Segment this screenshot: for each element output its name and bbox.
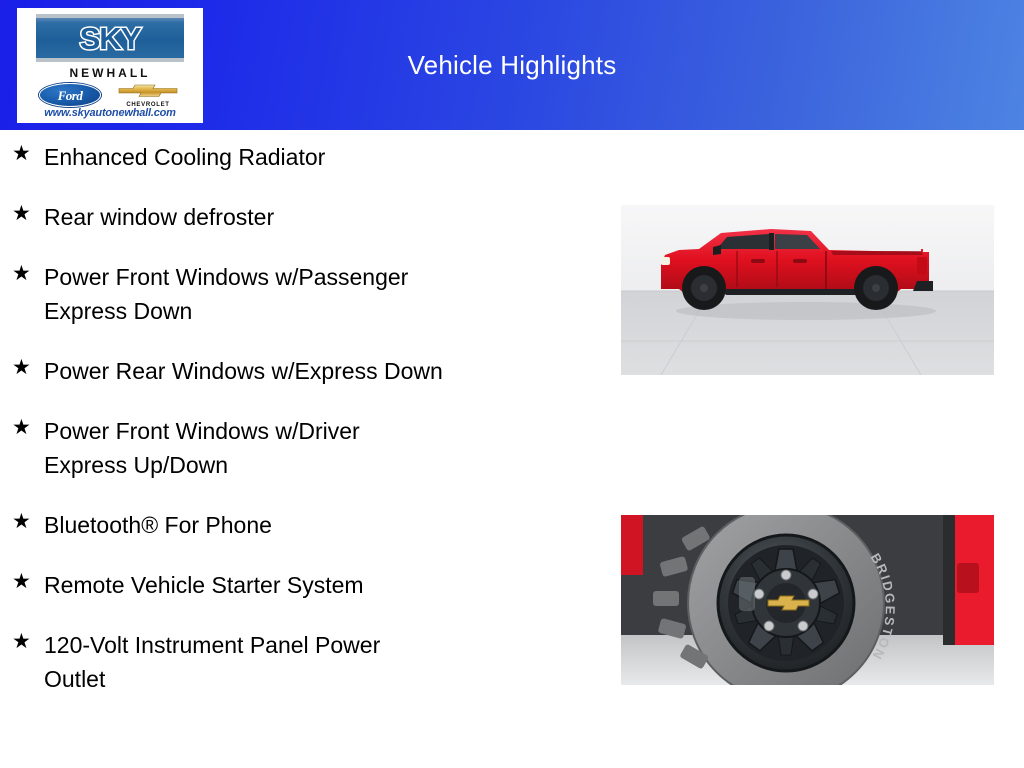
list-item: ★ Power Rear Windows w/Express Down bbox=[0, 354, 600, 388]
star-bullet-icon: ★ bbox=[12, 569, 31, 595]
star-bullet-icon: ★ bbox=[12, 629, 31, 655]
sky-wordmark: SKY bbox=[80, 23, 141, 54]
list-item-label: Power Front Windows w/Driver Express Up/… bbox=[44, 414, 600, 482]
dealer-location-label: NEWHALL bbox=[17, 66, 203, 80]
vehicle-wheel-illustration: BRIDGESTONE bbox=[621, 515, 994, 685]
list-item-label: 120-Volt Instrument Panel Power Outlet bbox=[44, 628, 600, 696]
list-item: ★ Power Front Windows w/Passenger Expres… bbox=[0, 260, 600, 328]
list-item-label: Remote Vehicle Starter System bbox=[44, 568, 600, 602]
list-item: ★ Rear window defroster bbox=[0, 200, 600, 234]
list-item: ★ Bluetooth® For Phone bbox=[0, 508, 600, 542]
franchise-logos: Ford CHEVROL bbox=[17, 82, 203, 108]
list-item-label: Rear window defroster bbox=[44, 200, 600, 234]
list-item-label: Power Rear Windows w/Express Down bbox=[44, 354, 600, 388]
list-item: ★ 120-Volt Instrument Panel Power Outlet bbox=[0, 628, 600, 696]
sky-brand-plate: SKY bbox=[36, 14, 184, 62]
list-item-label: Enhanced Cooling Radiator bbox=[44, 140, 600, 174]
ford-wordmark: Ford bbox=[58, 89, 83, 102]
star-bullet-icon: ★ bbox=[12, 201, 31, 227]
vehicle-exterior-photo[interactable] bbox=[621, 205, 994, 375]
vehicle-highlights-list: ★ Enhanced Cooling Radiator ★ Rear windo… bbox=[0, 140, 600, 722]
vehicle-wheel-photo[interactable]: BRIDGESTONE bbox=[621, 515, 994, 685]
vehicle-exterior-illustration bbox=[621, 205, 994, 375]
list-item-label: Power Front Windows w/Passenger Express … bbox=[44, 260, 600, 328]
star-bullet-icon: ★ bbox=[12, 415, 31, 441]
chevrolet-bowtie-icon bbox=[118, 83, 178, 98]
ford-logo-icon: Ford bbox=[39, 83, 101, 107]
list-item-label: Bluetooth® For Phone bbox=[44, 508, 600, 542]
vehicle-highlights-page: Vehicle Highlights SKY NEWHALL Ford bbox=[0, 0, 1024, 768]
star-bullet-icon: ★ bbox=[12, 141, 31, 167]
list-item: ★ Enhanced Cooling Radiator bbox=[0, 140, 600, 174]
star-bullet-icon: ★ bbox=[12, 509, 31, 535]
star-bullet-icon: ★ bbox=[12, 355, 31, 381]
page-header: Vehicle Highlights SKY NEWHALL Ford bbox=[0, 0, 1024, 130]
list-item: ★ Power Front Windows w/Driver Express U… bbox=[0, 414, 600, 482]
list-item: ★ Remote Vehicle Starter System bbox=[0, 568, 600, 602]
dealer-website-link[interactable]: www.skyautonewhall.com bbox=[17, 107, 203, 119]
chevrolet-logo-icon: CHEVROLET bbox=[115, 82, 181, 108]
dealer-logo[interactable]: SKY NEWHALL Ford bbox=[17, 8, 203, 123]
star-bullet-icon: ★ bbox=[12, 261, 31, 287]
